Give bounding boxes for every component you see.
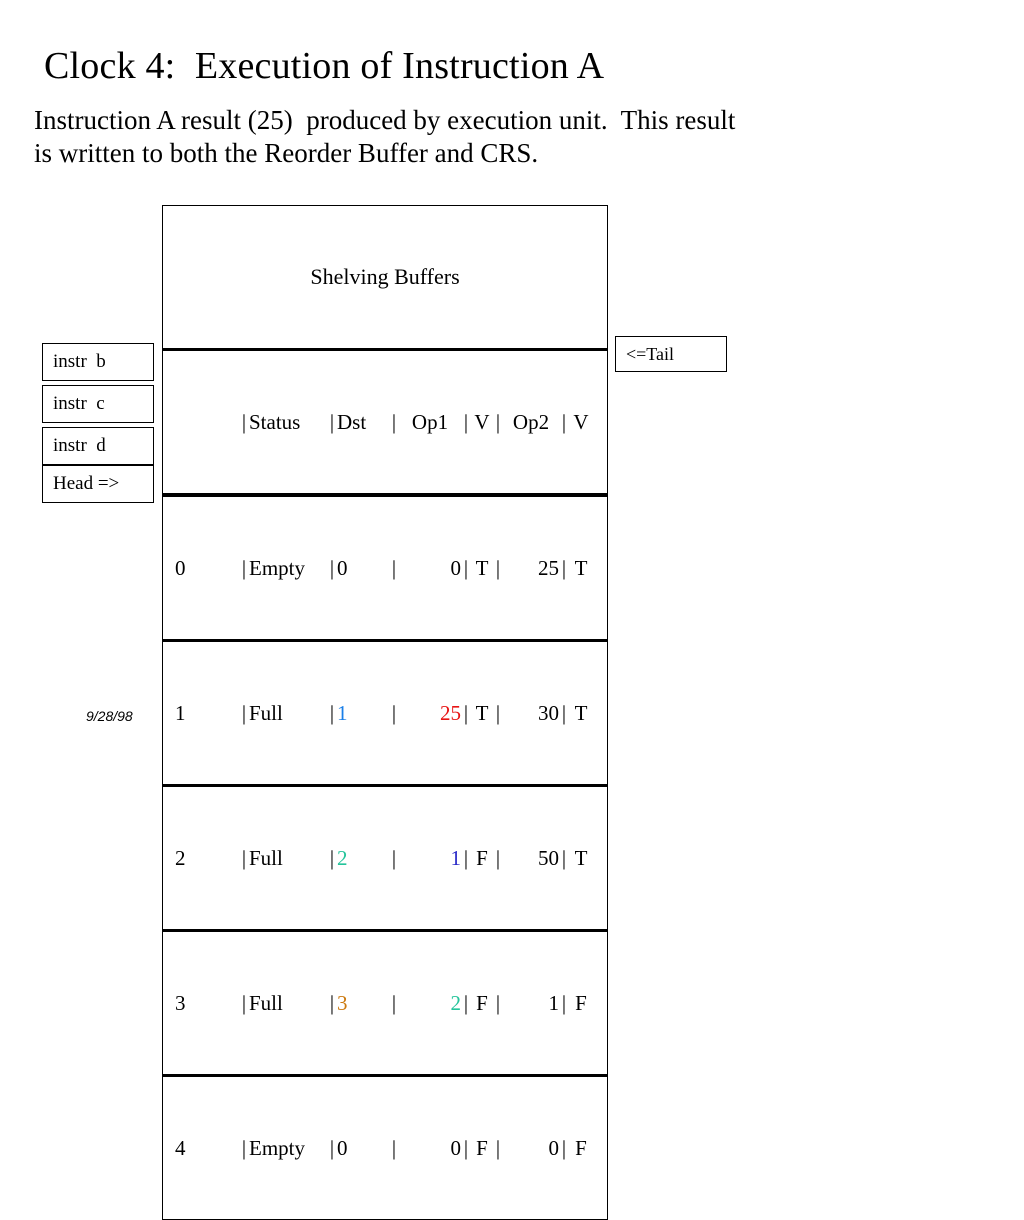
shelving-buffers-table: Shelving Buffers | Status | Dst | Op1 | …	[162, 205, 608, 1220]
table-row: 0 | Empty | 0 | 0 | T | 25 | T	[163, 495, 607, 641]
column-header-op2: Op2	[503, 410, 559, 435]
separator-bar: |	[239, 1136, 249, 1161]
page-title: Clock 4: Execution of Instruction A	[44, 43, 604, 89]
cell-status: Empty	[249, 1136, 327, 1161]
table-header-row: | Status | Dst | Op1 | V | Op2 | V	[163, 350, 607, 496]
cell-op2: 0	[503, 1136, 559, 1161]
cell-op2: 50	[503, 846, 559, 871]
slide-description-line-1: Instruction A result (25) produced by ex…	[34, 104, 964, 137]
separator-bar: |	[559, 701, 569, 726]
separator-bar: |	[559, 410, 569, 435]
cell-dst: 0	[337, 1136, 389, 1161]
table-row: 2 | Full | 2 | 1 | F | 50 | T	[163, 786, 607, 931]
slide-description: Instruction A result (25) produced by ex…	[34, 104, 964, 170]
cell-index: 0	[175, 556, 239, 581]
separator-bar: |	[493, 846, 503, 871]
separator-bar: |	[389, 846, 399, 871]
cell-status: Full	[249, 846, 327, 871]
cell-v2: F	[569, 1136, 593, 1161]
cell-index: 4	[175, 1136, 239, 1161]
separator-bar: |	[239, 556, 249, 581]
tail-pointer-box: <=Tail	[615, 336, 727, 372]
column-header-dst: Dst	[337, 410, 389, 435]
reorder-buffer-entry-c: instr c	[42, 385, 154, 423]
separator-bar: |	[389, 556, 399, 581]
column-header-status: Status	[249, 410, 327, 435]
cell-status: Empty	[249, 556, 327, 581]
cell-dst: 3	[337, 991, 389, 1016]
separator-bar: |	[461, 991, 471, 1016]
cell-v2: T	[569, 556, 593, 581]
cell-index: 3	[175, 991, 239, 1016]
separator-bar: |	[389, 410, 399, 435]
cell-index: 2	[175, 846, 239, 871]
separator-bar: |	[493, 1136, 503, 1161]
separator-bar: |	[239, 991, 249, 1016]
column-header-v1: V	[471, 410, 493, 435]
cell-status: Full	[249, 701, 327, 726]
table-caption-row: Shelving Buffers	[163, 206, 607, 350]
cell-v2: T	[569, 846, 593, 871]
table-row: 4 | Empty | 0 | 0 | F | 0 | F	[163, 1076, 607, 1220]
cell-op1: 0	[399, 556, 461, 581]
cell-v2: T	[569, 701, 593, 726]
cell-v1: F	[471, 846, 493, 871]
reorder-buffer-head-pointer: Head =>	[42, 465, 154, 503]
table-row: 1 | Full | 1 | 25 | T | 30 | T	[163, 641, 607, 786]
separator-bar: |	[493, 701, 503, 726]
cell-dst: 2	[337, 846, 389, 871]
separator-bar: |	[327, 991, 337, 1016]
separator-bar: |	[559, 991, 569, 1016]
separator-bar: |	[327, 410, 337, 435]
slide-description-line-2: is written to both the Reorder Buffer an…	[34, 137, 964, 170]
cell-op1: 25	[399, 701, 461, 726]
separator-bar: |	[493, 556, 503, 581]
slide-footer-date: 9/28/98	[86, 708, 133, 724]
separator-bar: |	[239, 701, 249, 726]
separator-bar: |	[559, 1136, 569, 1161]
separator-bar: |	[461, 701, 471, 726]
reorder-buffer-entry-d: instr d	[42, 427, 154, 465]
shelving-buffers-caption: Shelving Buffers	[163, 256, 607, 298]
separator-bar: |	[461, 410, 471, 435]
column-header-v2: V	[569, 410, 593, 435]
cell-v1: T	[471, 701, 493, 726]
cell-v1: T	[471, 556, 493, 581]
cell-v2: F	[569, 991, 593, 1016]
cell-dst: 1	[337, 701, 389, 726]
separator-bar: |	[389, 991, 399, 1016]
separator-bar: |	[239, 846, 249, 871]
separator-bar: |	[461, 1136, 471, 1161]
cell-dst: 0	[337, 556, 389, 581]
separator-bar: |	[327, 846, 337, 871]
cell-op2: 1	[503, 991, 559, 1016]
separator-bar: |	[327, 701, 337, 726]
cell-op2: 30	[503, 701, 559, 726]
separator-bar: |	[389, 701, 399, 726]
separator-bar: |	[461, 556, 471, 581]
cell-v1: F	[471, 991, 493, 1016]
cell-op2: 25	[503, 556, 559, 581]
cell-v1: F	[471, 1136, 493, 1161]
separator-bar: |	[389, 1136, 399, 1161]
separator-bar: |	[327, 556, 337, 581]
reorder-buffer-entry-b: instr b	[42, 343, 154, 381]
separator-bar: |	[239, 410, 249, 435]
cell-op1: 2	[399, 991, 461, 1016]
cell-status: Full	[249, 991, 327, 1016]
separator-bar: |	[493, 410, 503, 435]
separator-bar: |	[461, 846, 471, 871]
separator-bar: |	[327, 1136, 337, 1161]
cell-index: 1	[175, 701, 239, 726]
separator-bar: |	[493, 991, 503, 1016]
table-row: 3 | Full | 3 | 2 | F | 1 | F	[163, 931, 607, 1076]
column-header-op1: Op1	[399, 410, 461, 435]
cell-op1: 1	[399, 846, 461, 871]
cell-op1: 0	[399, 1136, 461, 1161]
separator-bar: |	[559, 846, 569, 871]
separator-bar: |	[559, 556, 569, 581]
